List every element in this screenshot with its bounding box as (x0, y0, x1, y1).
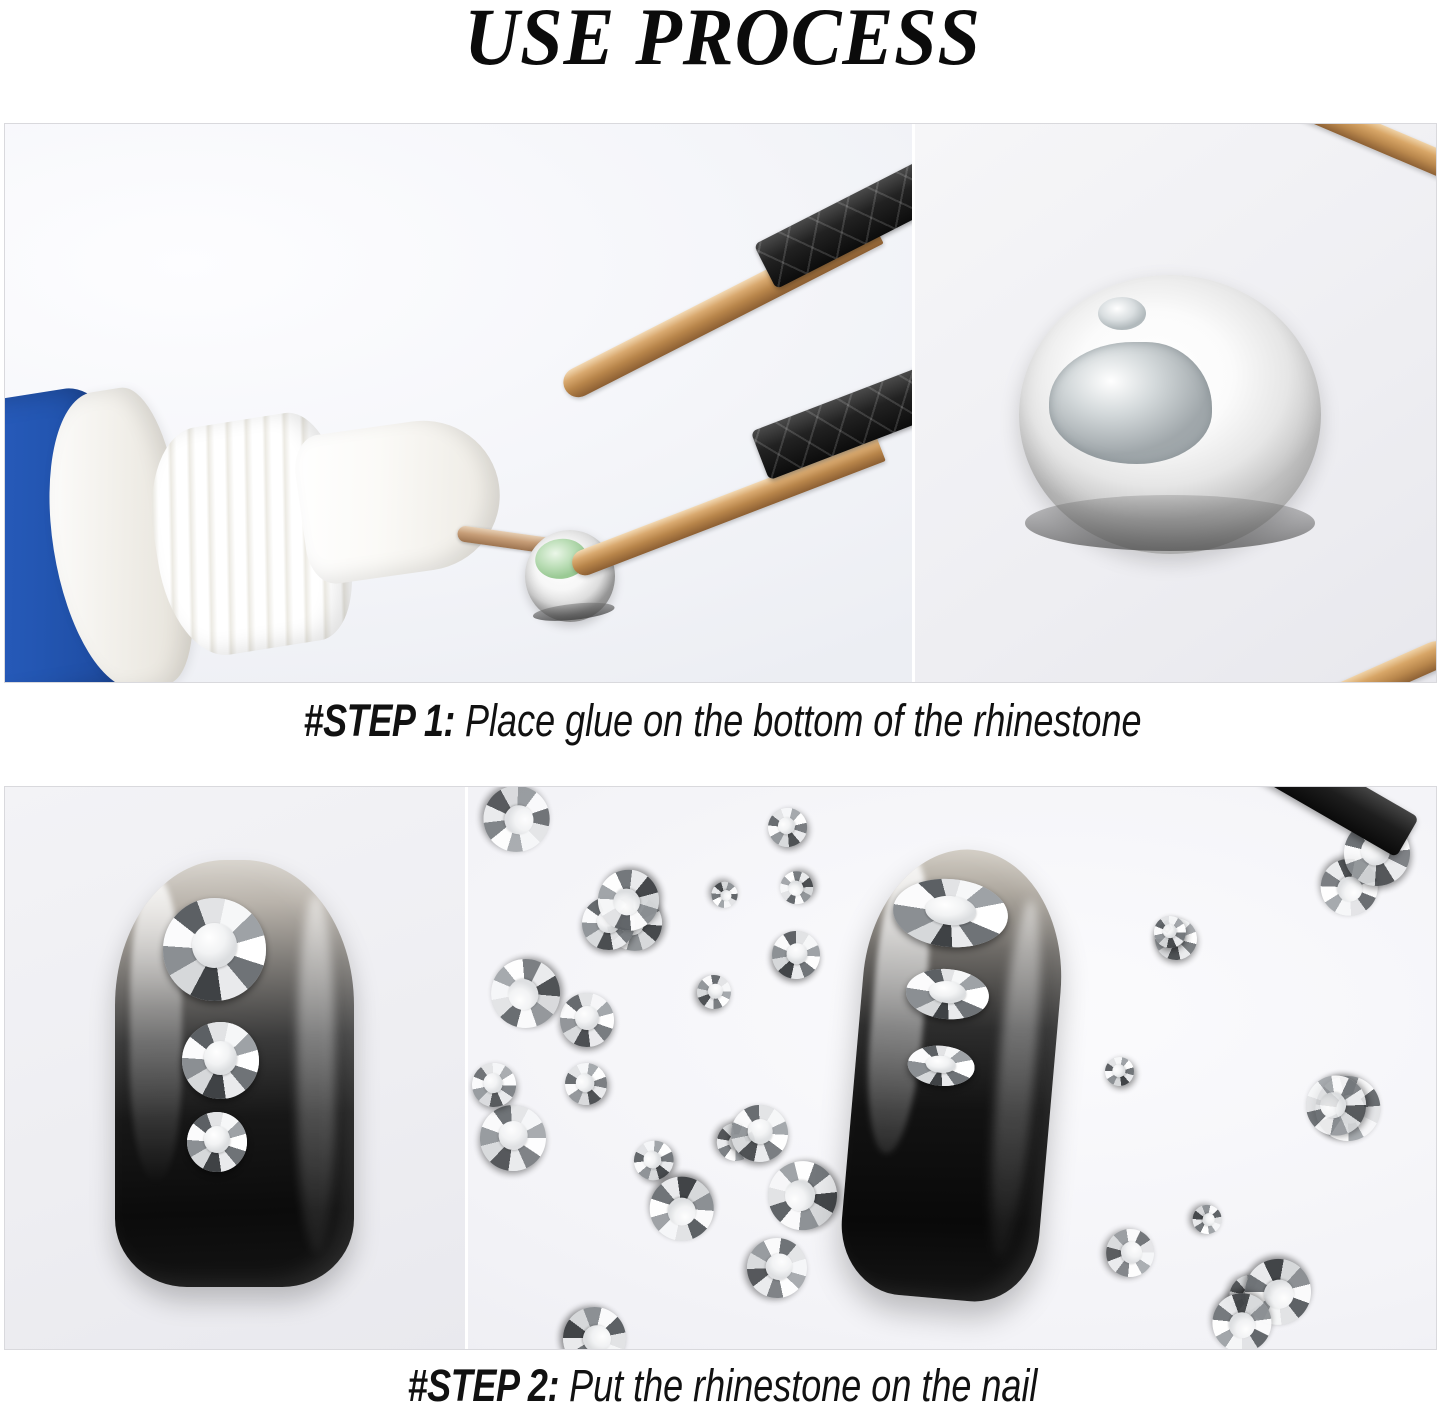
ombre-nail-tip (115, 860, 354, 1287)
step-2-caption: #STEP 2: Put the rhinestone on the nail (145, 1363, 1301, 1408)
panel-applying-rhinestones (468, 787, 1436, 1349)
panel-finished-nail (5, 787, 465, 1349)
scattered-rhinestone (761, 800, 814, 853)
scattered-rhinestone (472, 1097, 553, 1178)
panel-glued-rhinestone-closeup (915, 124, 1436, 682)
rhinestone-medium (182, 1022, 259, 1099)
step-1-label: #STEP 1: (304, 695, 456, 746)
rhinestone-table (204, 1041, 238, 1075)
rhinestone-table (575, 1006, 599, 1030)
scattered-rhinestone (560, 993, 615, 1048)
scattered-rhinestone (774, 865, 820, 911)
step-1-text: Place glue on the bottom of the rhinesto… (465, 695, 1141, 746)
scattered-rhinestone (471, 787, 562, 864)
scattered-rhinestone (557, 1055, 616, 1114)
nail-highlight-secondary (982, 898, 1049, 1259)
scattered-rhinestone (766, 1160, 837, 1232)
glue-blob (1049, 342, 1212, 465)
tweezer-tip-lower (1069, 633, 1436, 682)
rhinestone-on-nail-small (906, 1043, 977, 1089)
rhinestone-small (187, 1112, 247, 1172)
step-2-label: #STEP 2: (408, 1360, 560, 1411)
rhinestone-rim (1025, 495, 1315, 551)
step-2-text: Put the rhinestone on the nail (569, 1360, 1037, 1411)
panel-glue-application (5, 124, 912, 682)
glue-dot (1098, 297, 1146, 330)
scattered-rhinestone (766, 924, 828, 986)
scattered-rhinestone (1191, 1203, 1224, 1236)
step-1-image-row (4, 123, 1437, 683)
scattered-rhinestone (1102, 1224, 1160, 1282)
scattered-rhinestone (707, 876, 743, 912)
nail-highlight-secondary (297, 894, 335, 1253)
scattered-rhinestone (690, 968, 738, 1016)
step-1-caption: #STEP 1: Place glue on the bottom of the… (145, 698, 1301, 743)
rhinestone-table (192, 923, 237, 968)
scattered-rhinestone (558, 1303, 630, 1349)
tweezer-lower-arm (568, 437, 885, 580)
rhinestone-table (204, 1126, 230, 1152)
glue-bottle-nozzle (291, 411, 510, 587)
tweezer-tip-upper (1077, 124, 1436, 182)
page-title: USE PROCESS (51, 0, 1395, 78)
scattered-rhinestone (481, 949, 571, 1039)
rhinestone-back (1019, 275, 1321, 554)
scattered-rhinestone (736, 1227, 818, 1309)
scattered-rhinestone (650, 1177, 714, 1241)
scattered-rhinestone (468, 1058, 521, 1112)
rhinestone-large (163, 898, 266, 1001)
scattered-rhinestone (1099, 1051, 1139, 1091)
step-2-image-row (4, 786, 1437, 1350)
